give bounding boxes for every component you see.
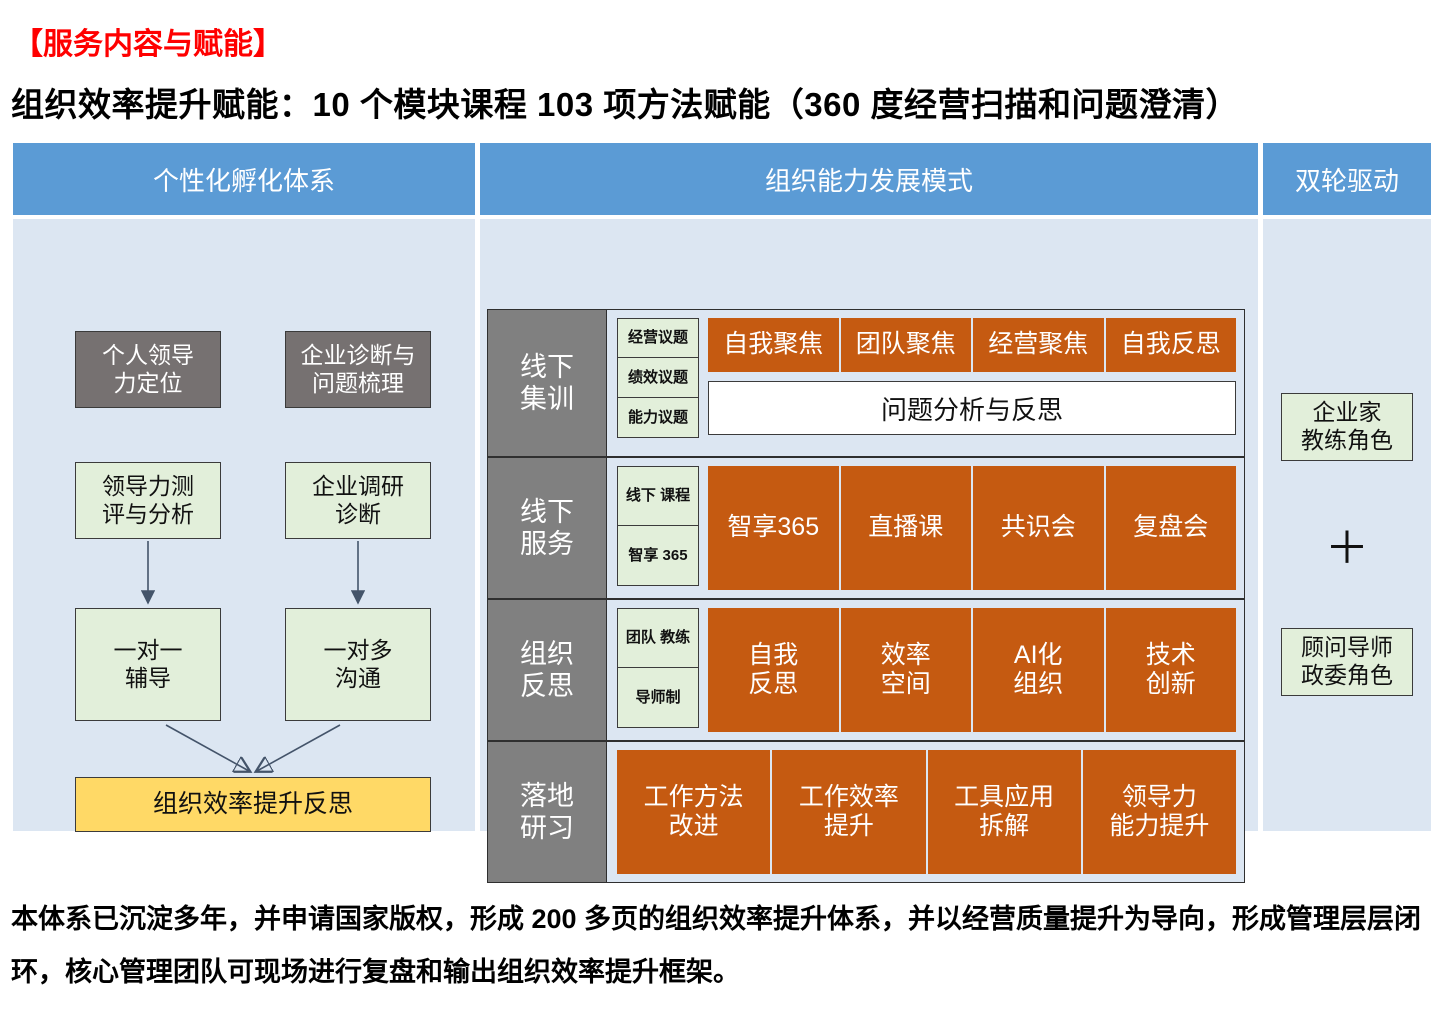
flow-node-enterprise-research[interactable]: 企业调研 诊断	[285, 462, 431, 539]
panel-personalized-incubation: 个人领导 力定位 企业诊断与 问题梳理 领导力测 评与分析 企业调研 诊断 一对…	[13, 219, 475, 831]
flow-node-one-on-one-coaching[interactable]: 一对一 辅导	[75, 608, 221, 721]
flow-node-personal-leadership-positioning[interactable]: 个人领导 力定位	[75, 331, 221, 408]
cell-ai-organization[interactable]: AI化 组织	[973, 608, 1104, 732]
flow-node-one-to-many-communication[interactable]: 一对多 沟通	[285, 608, 431, 721]
row-label-implementation-study: 落地 研习	[487, 741, 607, 883]
cell-business-focus[interactable]: 经营聚焦	[973, 318, 1104, 372]
cell-zhixiang365[interactable]: 智享365	[708, 466, 839, 590]
cells-offline-training: 自我聚焦 团队聚焦 经营聚焦 自我反思 问题分析与反思	[708, 318, 1236, 448]
cells-org-reflection: 自我 反思 效率 空间 AI化 组织 技术 创新	[708, 608, 1236, 732]
cell-efficiency-space[interactable]: 效率 空间	[841, 608, 972, 732]
panel-capability-development: 线下 集训 经营议题 绩效议题 能力议题 自我聚焦 团队聚焦 经营聚焦 自我反思	[480, 219, 1258, 831]
tag-column-offline-training: 经营议题 绩效议题 能力议题	[617, 318, 699, 438]
row-label-offline-service: 线下 服务	[487, 457, 607, 599]
center-row-org-reflection: 组织 反思 团队 教练 导师制 自我 反思 效率 空间 AI化 组织 技术 创新	[487, 599, 1245, 741]
cell-team-focus[interactable]: 团队聚焦	[841, 318, 972, 372]
cell-problem-analysis-reflection[interactable]: 问题分析与反思	[708, 381, 1236, 435]
cell-work-efficiency-improve[interactable]: 工作效率 提升	[772, 750, 925, 874]
tag-mentorship[interactable]: 导师制	[617, 668, 699, 728]
flow-node-leadership-assessment[interactable]: 领导力测 评与分析	[75, 462, 221, 539]
cell-leadership-capability[interactable]: 领导力 能力提升	[1083, 750, 1236, 874]
cell-work-method-improvement[interactable]: 工作方法 改进	[617, 750, 770, 874]
tag-zhixiang-365[interactable]: 智享 365	[617, 526, 699, 586]
cells-offline-service: 智享365 直播课 共识会 复盘会	[708, 466, 1236, 590]
diagram-header-row: 个性化孵化体系 组织能力发展模式 双轮驱动	[13, 143, 1431, 215]
cellrow-focus-items: 自我聚焦 团队聚焦 经营聚焦 自我反思	[708, 318, 1236, 372]
center-row-offline-service: 线下 服务 线下 课程 智享 365 智享365 直播课 共识会 复盘会	[487, 457, 1245, 599]
tag-offline-course[interactable]: 线下 课程	[617, 466, 699, 526]
center-row-implementation-study: 落地 研习 工作方法 改进 工作效率 提升 工具应用 拆解 领导力 能力提升	[487, 741, 1245, 883]
row-content-offline-service: 线下 课程 智享 365 智享365 直播课 共识会 复盘会	[607, 457, 1245, 599]
tag-performance-topic[interactable]: 绩效议题	[617, 358, 699, 398]
capability-diagram: 个性化孵化体系 组织能力发展模式 双轮驱动 个人领导 力	[13, 143, 1431, 831]
tag-column-org-reflection: 团队 教练 导师制	[617, 608, 699, 728]
cell-review-meeting[interactable]: 复盘会	[1106, 466, 1237, 590]
panel-dual-drive: 企业家 教练角色 ＋ 顾问导师 政委角色	[1263, 219, 1431, 831]
tag-business-topic[interactable]: 经营议题	[617, 318, 699, 358]
slide-main-title: 组织效率提升赋能：10 个模块课程 103 项方法赋能（360 度经营扫描和问题…	[11, 78, 1239, 126]
cell-technology-innovation[interactable]: 技术 创新	[1106, 608, 1237, 732]
center-row-offline-training: 线下 集训 经营议题 绩效议题 能力议题 自我聚焦 团队聚焦 经营聚焦 自我反思	[487, 309, 1245, 457]
footer-paragraph: 本体系已沉淀多年，并申请国家版权，形成 200 多页的组织效率提升体系，并以经营…	[11, 893, 1435, 998]
column-header-dual-drive: 双轮驱动	[1263, 143, 1431, 215]
flow-node-org-efficiency-reflection[interactable]: 组织效率提升反思	[75, 777, 431, 832]
slide-tag-title: 【服务内容与赋能】	[13, 19, 283, 63]
tag-column-offline-service: 线下 课程 智享 365	[617, 466, 699, 586]
row-label-org-reflection: 组织 反思	[487, 599, 607, 741]
tag-capability-topic[interactable]: 能力议题	[617, 398, 699, 438]
cell-live-class[interactable]: 直播课	[841, 466, 972, 590]
cell-self-reflection-2[interactable]: 自我 反思	[708, 608, 839, 732]
dual-drive-consultant-commissar-role[interactable]: 顾问导师 政委角色	[1281, 628, 1413, 696]
cell-self-focus[interactable]: 自我聚焦	[708, 318, 839, 372]
flow-node-enterprise-diagnosis[interactable]: 企业诊断与 问题梳理	[285, 331, 431, 408]
plus-icon: ＋	[1281, 519, 1413, 569]
cell-tool-application[interactable]: 工具应用 拆解	[928, 750, 1081, 874]
column-header-capability-development: 组织能力发展模式	[480, 143, 1258, 215]
cell-self-reflection[interactable]: 自我反思	[1106, 318, 1237, 372]
cellrow-implementation-items: 工作方法 改进 工作效率 提升 工具应用 拆解 领导力 能力提升	[617, 750, 1236, 874]
column-header-personalized-incubation: 个性化孵化体系	[13, 143, 475, 215]
cellrow-problem-analysis: 问题分析与反思	[708, 381, 1236, 435]
cellrow-reflection-items: 自我 反思 效率 空间 AI化 组织 技术 创新	[708, 608, 1236, 732]
cells-implementation-study: 工作方法 改进 工作效率 提升 工具应用 拆解 领导力 能力提升	[617, 750, 1236, 874]
diagram-body-row: 个人领导 力定位 企业诊断与 问题梳理 领导力测 评与分析 企业调研 诊断 一对…	[13, 219, 1431, 831]
tag-team-coaching[interactable]: 团队 教练	[617, 608, 699, 668]
cell-consensus-meeting[interactable]: 共识会	[973, 466, 1104, 590]
row-label-offline-training: 线下 集训	[487, 309, 607, 457]
row-content-implementation-study: 工作方法 改进 工作效率 提升 工具应用 拆解 领导力 能力提升	[607, 741, 1245, 883]
cellrow-service-items: 智享365 直播课 共识会 复盘会	[708, 466, 1236, 590]
row-content-offline-training: 经营议题 绩效议题 能力议题 自我聚焦 团队聚焦 经营聚焦 自我反思 问题分析与…	[607, 309, 1245, 457]
dual-drive-entrepreneur-coach-role[interactable]: 企业家 教练角色	[1281, 393, 1413, 461]
row-content-org-reflection: 团队 教练 导师制 自我 反思 效率 空间 AI化 组织 技术 创新	[607, 599, 1245, 741]
